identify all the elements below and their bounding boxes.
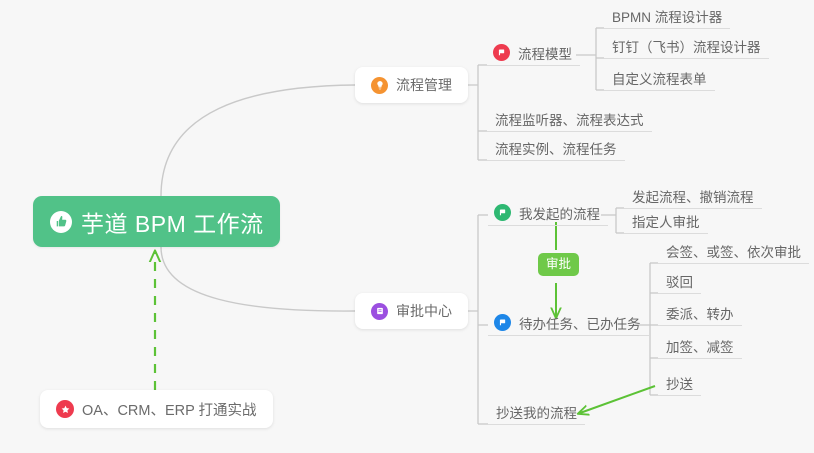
annotation-label: OA、CRM、ERP 打通实战 (82, 399, 257, 420)
node-label: 抄送我的流程 (496, 406, 577, 421)
node-instance-task[interactable]: 流程实例、流程任务 (487, 133, 625, 161)
branch-label: 流程管理 (396, 75, 452, 95)
node-assignee-approval[interactable]: 指定人审批 (624, 206, 708, 234)
node-cc-to-me-process[interactable]: 抄送我的流程 (488, 397, 585, 425)
branch-label: 审批中心 (396, 301, 452, 321)
node-label: 指定人审批 (632, 215, 700, 230)
node-label: 自定义流程表单 (612, 72, 707, 87)
node-label: 加签、减签 (666, 340, 734, 355)
node-cc[interactable]: 抄送 (658, 368, 701, 396)
flag-icon (494, 204, 511, 221)
annotation-approval-chip: 审批 (538, 253, 579, 276)
node-delegate-transfer[interactable]: 委派、转办 (658, 298, 742, 326)
node-label: 抄送 (666, 377, 693, 392)
branch-approval-center[interactable]: 审批中心 (355, 293, 468, 329)
node-my-initiated-process[interactable]: 我发起的流程 (488, 198, 608, 226)
node-custom-process-form[interactable]: 自定义流程表单 (604, 63, 715, 91)
root-label: 芋道 BPM 工作流 (81, 205, 264, 239)
node-listener-expression[interactable]: 流程监听器、流程表达式 (487, 104, 652, 132)
node-add-remove-sign[interactable]: 加签、减签 (658, 331, 742, 359)
node-label: 钉钉（飞书）流程设计器 (612, 40, 761, 55)
annotation-integration-note[interactable]: OA、CRM、ERP 打通实战 (40, 390, 273, 428)
node-bpmn-designer[interactable]: BPMN 流程设计器 (604, 1, 730, 29)
branch-process-management[interactable]: 流程管理 (355, 67, 468, 103)
node-start-cancel-process[interactable]: 发起流程、撤销流程 (624, 181, 762, 209)
node-label: 流程实例、流程任务 (495, 142, 617, 157)
node-counter-or-sequential-sign[interactable]: 会签、或签、依次审批 (658, 236, 809, 264)
node-label: BPMN 流程设计器 (612, 10, 722, 25)
node-label: 委派、转办 (666, 307, 734, 322)
node-label: 会签、或签、依次审批 (666, 245, 801, 260)
root-node[interactable]: 芋道 BPM 工作流 (33, 196, 280, 247)
flag-icon (493, 44, 510, 61)
lightbulb-icon (371, 77, 388, 94)
node-process-model[interactable]: 流程模型 (487, 38, 580, 66)
mindmap-canvas: 芋道 BPM 工作流 流程管理 审批中心 流程模型 流程监听器、流 (0, 0, 814, 453)
node-dingtalk-feishu-designer[interactable]: 钉钉（飞书）流程设计器 (604, 31, 769, 59)
node-todo-done-tasks[interactable]: 待办任务、已办任务 (488, 308, 649, 336)
node-label: 待办任务、已办任务 (519, 317, 641, 332)
node-label: 驳回 (666, 275, 693, 290)
thumbs-up-icon (50, 211, 72, 233)
node-label: 发起流程、撤销流程 (632, 190, 754, 205)
node-reject[interactable]: 驳回 (658, 266, 701, 294)
node-label: 流程模型 (518, 47, 572, 62)
node-label: 我发起的流程 (519, 207, 600, 222)
clipboard-icon (371, 303, 388, 320)
node-label: 流程监听器、流程表达式 (495, 113, 644, 128)
star-icon (56, 400, 74, 418)
flag-icon (494, 314, 511, 331)
